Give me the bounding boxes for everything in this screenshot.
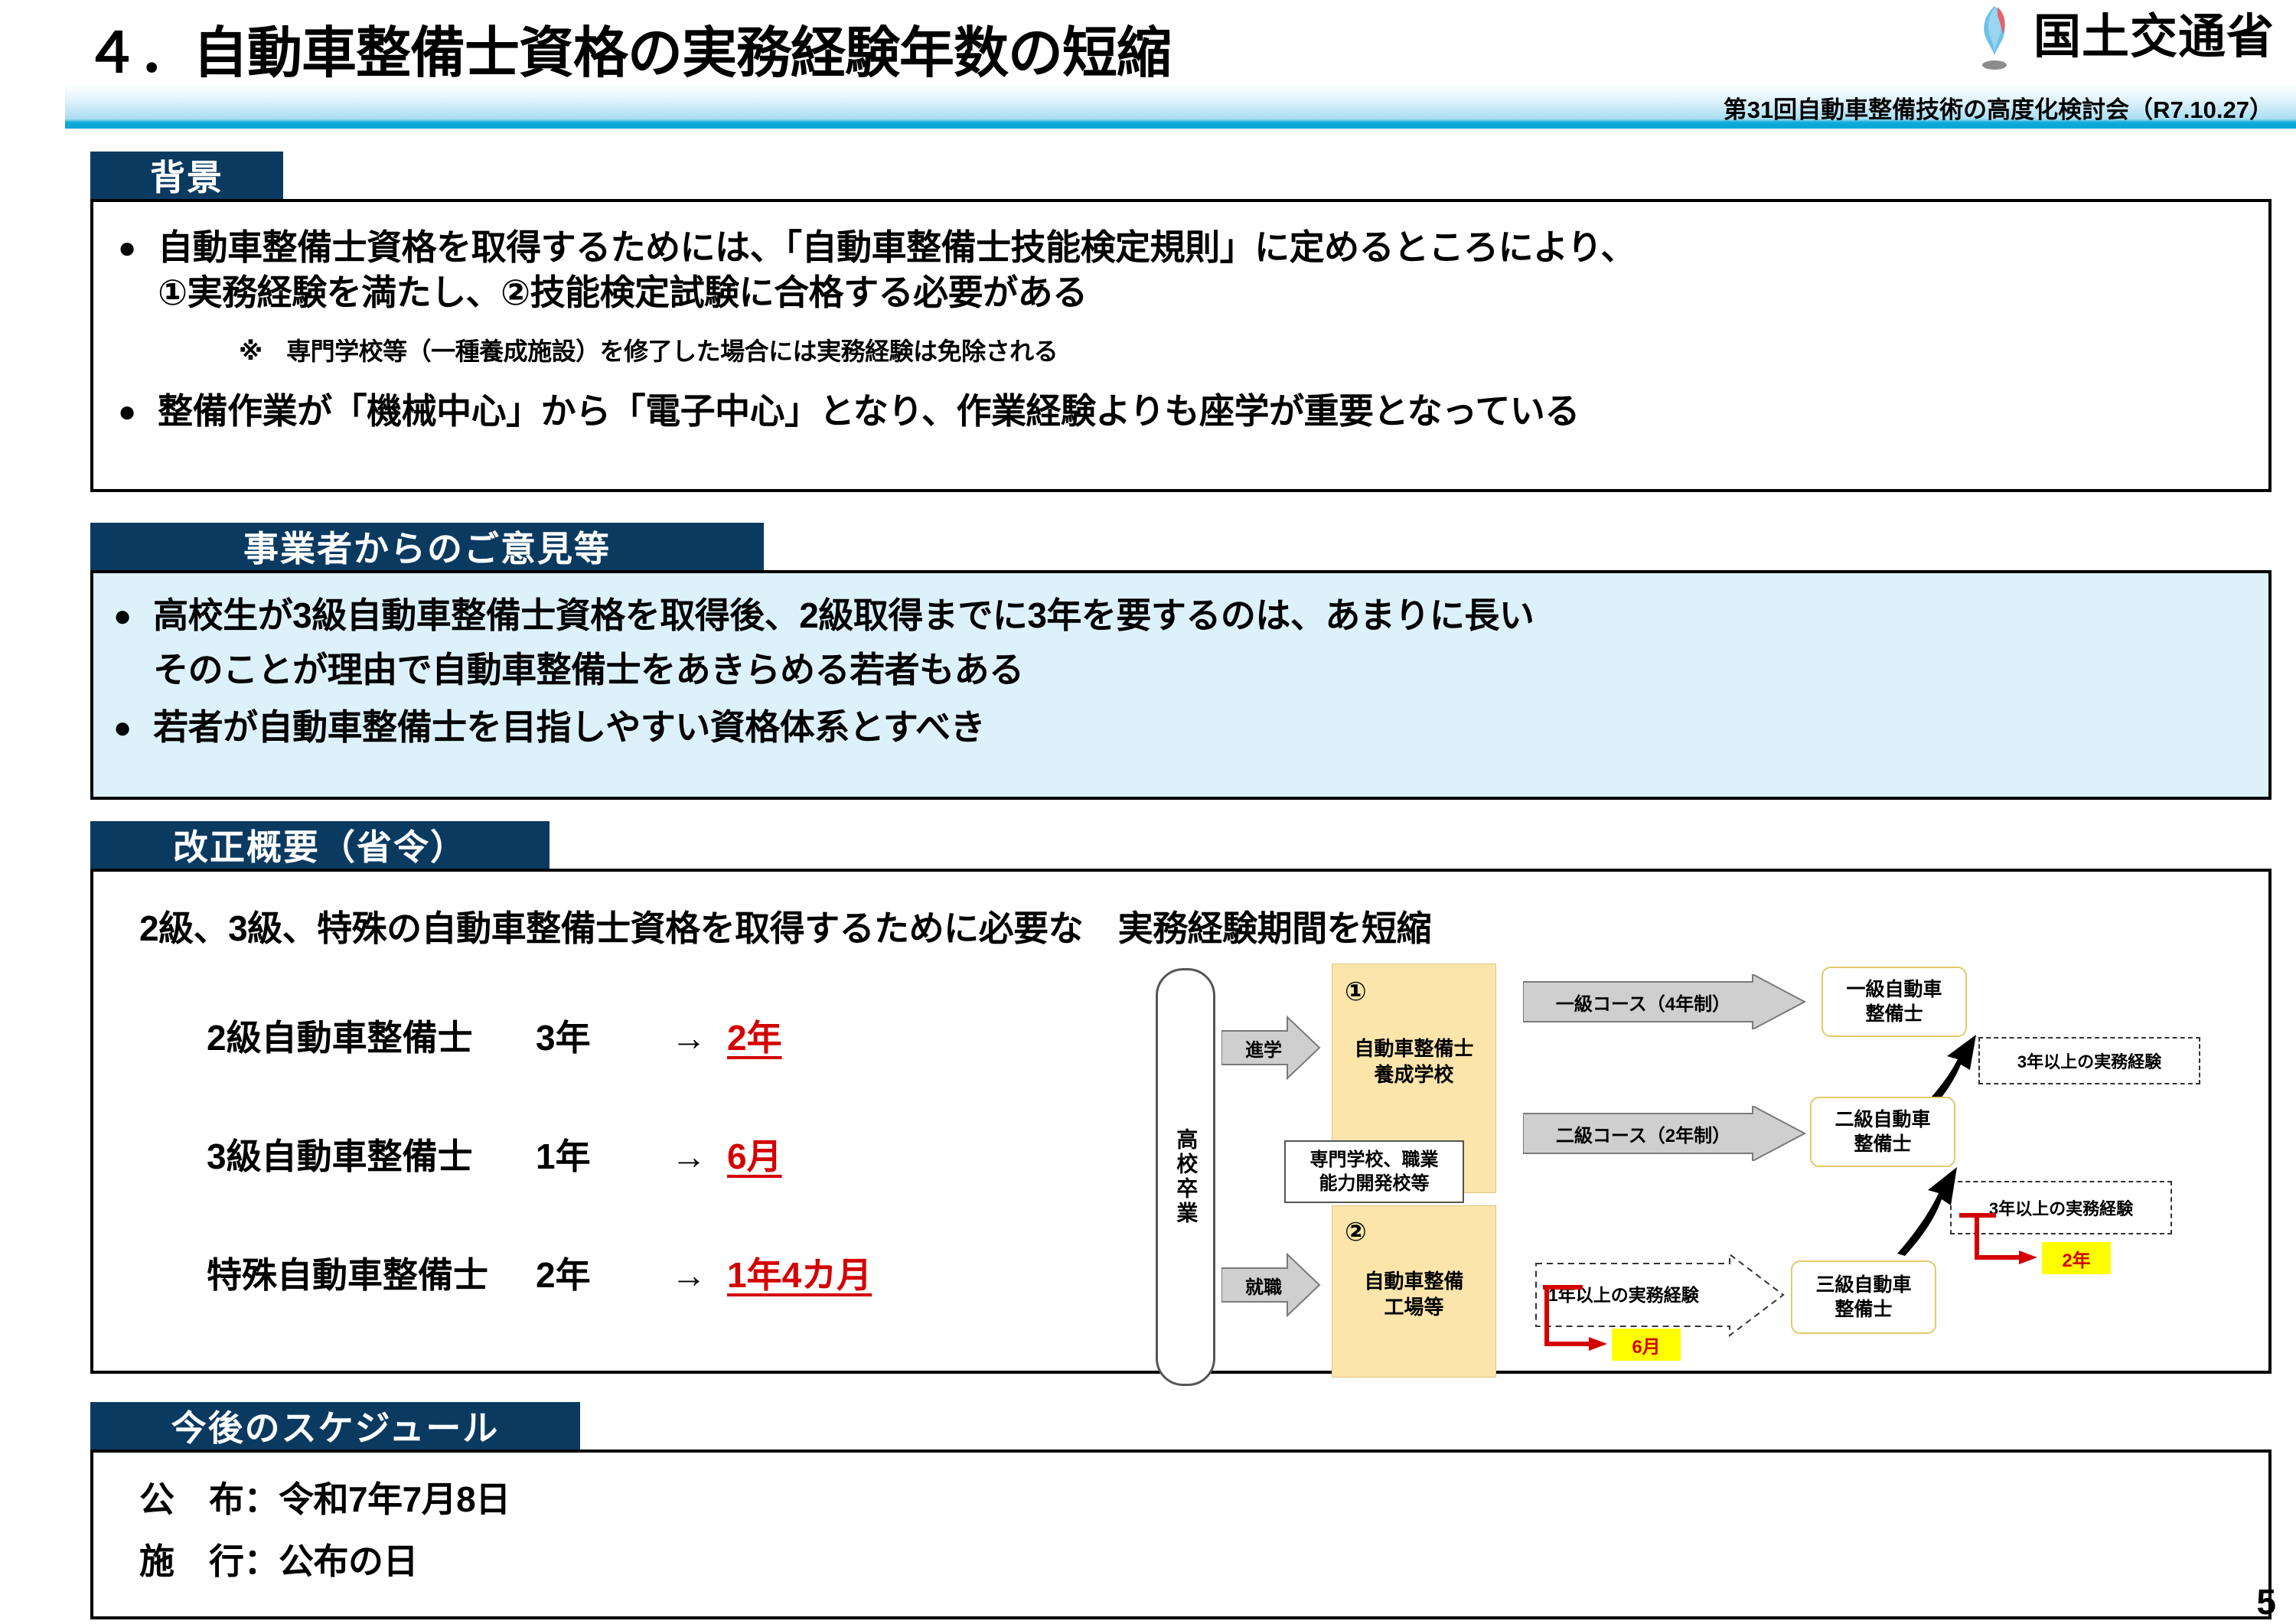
entry-experience-arrow: 1年以上の実務経験: [1534, 1253, 1787, 1341]
reduction-connector-grade2-vertical: [1975, 1213, 1979, 1257]
study-path-label: 進学: [1245, 1035, 1282, 1061]
course-grade2-label: 二級コース（2年制）: [1556, 1120, 1730, 1147]
node-number-1: ①: [1345, 975, 1367, 1009]
grade2-line-1: 二級自動車: [1835, 1107, 1930, 1133]
grade2-mechanic-node: 二級自動車 整備士: [1810, 1097, 1955, 1167]
amendment-row-old: 1年: [536, 1129, 651, 1179]
background-bullet-1-line-2: ①実務経験を満たし、②技能検定試験に合格する必要がある: [158, 270, 1636, 315]
schedule-box: 公 布：令和7年7月8日 施 行：公布の日: [90, 1450, 2272, 1619]
mlit-logo-text: 国土交通省: [2033, 14, 2275, 61]
repair-shop-line-1: 自動車整備: [1364, 1269, 1463, 1295]
experience-grade1-label: 3年以上の実務経験: [2017, 1048, 2161, 1073]
reduced-months-entry: 6月: [1612, 1329, 1681, 1361]
reduction-arrowhead-entry: [1589, 1335, 1609, 1357]
opinion-line-3: 若者が自動車整備士を目指しやすい資格体系とすべき: [153, 705, 985, 750]
experience-grade2-label: 3年以上の実務経験: [1989, 1195, 2133, 1220]
high-school-label: 高校卒業: [1174, 1128, 1198, 1226]
node-number-2: ②: [1345, 1215, 1367, 1249]
experience-grade1-box: 3年以上の実務経験: [1978, 1037, 2200, 1084]
reduction-connector-grade2-horizontal: [1975, 1255, 2022, 1260]
career-path-diagram: 高校卒業 進学 ① 自動車整備士 養成学校 専門学校、職業 能力開発校等 就職: [1148, 960, 2235, 1389]
page-title: ４．自動車整備士資格の実務経験年数の短縮: [84, 8, 1171, 88]
opinion-line-2: そのことが理由で自動車整備士をあきらめる若者もある: [153, 647, 1534, 693]
course-grade1-arrow: 一級コース（4年制）: [1523, 974, 1806, 1029]
page-number: 5: [2256, 1581, 2276, 1622]
opinions-box: ● 高校生が3級自動車整備士資格を取得後、2級取得までに3年を要するのは、あまり…: [90, 570, 2272, 800]
reduction-connector-entry-vertical: [1544, 1285, 1549, 1345]
section-label-schedule: 今後のスケジュール: [90, 1402, 580, 1450]
grade1-line-1: 一級自動車: [1846, 977, 1942, 1003]
training-school-line-2: 養成学校: [1374, 1062, 1453, 1088]
employment-path-label: 就職: [1245, 1272, 1282, 1299]
repair-shop-line-2: 工場等: [1384, 1295, 1443, 1321]
section-label-background: 背景: [90, 152, 283, 199]
reduced-years-grade2-label: 2年: [2062, 1245, 2090, 1272]
background-note: ※ 専門学校等（一種養成施設）を修了した場合には実務経験は免除される: [239, 332, 2268, 367]
amendment-row-arrow: →: [651, 1254, 727, 1296]
grade1-line-2: 整備士: [1865, 1002, 1923, 1027]
mlit-logo-mark: [1966, 5, 2023, 70]
section-label-opinions: 事業者からのご意見等: [90, 523, 764, 570]
repair-shop-node: ② 自動車整備 工場等: [1332, 1205, 1496, 1378]
grade3-mechanic-node: 三級自動車 整備士: [1791, 1260, 1936, 1334]
course-grade1-label: 一級コース（4年制）: [1556, 989, 1730, 1016]
upgrade-arrow-grade3-to-grade2: [1894, 1166, 1963, 1261]
amendment-row-old: 2年: [536, 1247, 651, 1298]
background-box: ● 自動車整備士資格を取得するためには、「自動車整備士技能検定規則」に定めるとこ…: [90, 199, 2272, 492]
reduction-connector-entry-horizontal: [1544, 1342, 1592, 1346]
reduction-arrowhead-grade2: [2019, 1248, 2039, 1270]
amendment-row-name: 特殊自動車整備士: [207, 1247, 536, 1298]
reduced-months-entry-label: 6月: [1632, 1332, 1660, 1358]
background-bullet-2: 整備作業が「機械中心」から「電子中心」となり、作業経験よりも座学が重要となってい…: [158, 389, 1580, 434]
study-path-arrow: 進学: [1221, 1014, 1321, 1081]
section-label-amendment: 改正概要（省令）: [90, 821, 550, 869]
opinion-line-1: 高校生が3級自動車整備士資格を取得後、2級取得までに3年を要するのは、あまりに長…: [153, 593, 1534, 638]
grade2-line-2: 整備士: [1854, 1132, 1911, 1157]
amendment-row-new: 2年: [727, 1010, 782, 1061]
bullet-marker: ●: [118, 396, 136, 427]
schedule-line-1: 公 布：令和7年7月8日: [139, 1477, 2268, 1522]
course-grade2-arrow: 二級コース（2年制）: [1523, 1106, 1806, 1161]
amendment-heading: 2級、3級、特殊の自動車整備士資格を取得するために必要な 実務経験期間を短縮: [139, 901, 2268, 951]
bullet-marker: ●: [118, 233, 136, 263]
mlit-logo: 国土交通省: [1966, 5, 2275, 70]
background-bullet-1-line-1: 自動車整備士資格を取得するためには、「自動車整備士技能検定規則」に定めるところに…: [158, 225, 1636, 270]
high-school-node: 高校卒業: [1156, 968, 1215, 1386]
amendment-row-arrow: →: [651, 1136, 727, 1177]
meeting-subtitle: 第31回自動車整備技術の高度化検討会（R7.10.27）: [1724, 90, 2273, 125]
amendment-row: 3級自動車整備士 1年 → 6月: [207, 1129, 782, 1179]
amendment-row-old: 3年: [536, 1010, 651, 1061]
grade3-line-2: 整備士: [1835, 1297, 1892, 1322]
amendment-row: 特殊自動車整備士 2年 → 1年4カ月: [207, 1247, 872, 1298]
amendment-row: 2級自動車整備士 3年 → 2年: [207, 1010, 782, 1061]
amendment-row-arrow: →: [651, 1017, 727, 1058]
grade1-mechanic-node: 一級自動車 整備士: [1821, 967, 1967, 1037]
amendment-row-new: 1年4カ月: [727, 1247, 872, 1298]
callout-line-2: 能力開発校等: [1292, 1172, 1456, 1195]
vocational-school-callout: 専門学校、職業 能力開発校等: [1284, 1140, 1464, 1203]
training-school-line-1: 自動車整備士: [1354, 1036, 1473, 1062]
experience-grade2-box: 3年以上の実務経験: [1950, 1181, 2172, 1234]
employment-path-arrow: 就職: [1221, 1251, 1321, 1319]
amendment-row-new: 6月: [727, 1129, 782, 1179]
grade3-line-1: 三級自動車: [1815, 1273, 1911, 1298]
amendment-row-name: 3級自動車整備士: [207, 1129, 536, 1179]
reduced-years-grade2: 2年: [2042, 1242, 2111, 1274]
callout-line-1: 専門学校、職業: [1292, 1148, 1456, 1172]
schedule-line-2: 施 行：公布の日: [139, 1539, 2268, 1584]
bullet-marker: ●: [113, 713, 132, 743]
amendment-row-name: 2級自動車整備士: [207, 1010, 536, 1061]
bullet-marker: ●: [113, 601, 132, 631]
slide: ４．自動車整備士資格の実務経験年数の短縮 国土交通省 第31回自動車整備技術の高…: [0, 0, 2296, 1624]
